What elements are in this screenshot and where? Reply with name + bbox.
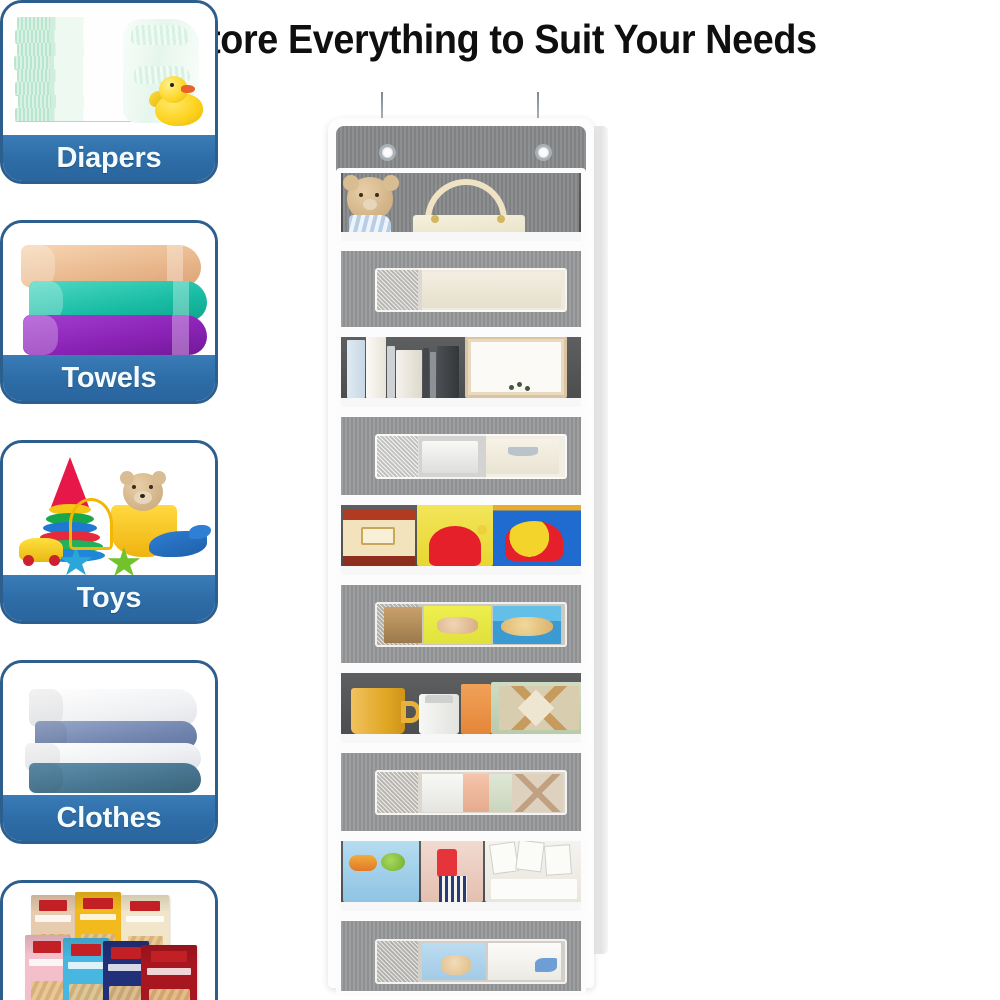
card-banner-diapers: Diapers	[3, 135, 215, 181]
card-banner-toys: Toys	[3, 575, 215, 621]
card-label-clothes: Clothes	[57, 802, 162, 835]
compartment-3-open-shelf[interactable]	[336, 332, 586, 412]
category-card-clothes[interactable]: Clothes	[0, 660, 218, 844]
card-banner-towels: Towels	[3, 355, 215, 401]
grommet-right	[535, 144, 552, 161]
towels-illustration	[3, 223, 215, 361]
compartment-5-open-shelf[interactable]	[336, 500, 586, 580]
card-label-towels: Towels	[62, 362, 157, 395]
clothes-illustration	[3, 663, 215, 801]
compartment-7-open-shelf[interactable]	[336, 668, 586, 748]
compartment-8-mesh-pocket[interactable]	[336, 748, 586, 836]
compartment-2-mesh-pocket[interactable]	[336, 246, 586, 332]
hanging-closet-organizer[interactable]	[322, 92, 600, 990]
compartment-4-mesh-pocket[interactable]	[336, 412, 586, 500]
infographic-canvas: Store Everything to Suit Your Needs	[0, 0, 1000, 1000]
card-banner-clothes: Clothes	[3, 795, 215, 841]
card-label-diapers: Diapers	[57, 142, 162, 175]
compartment-1-open-shelf[interactable]	[336, 168, 586, 246]
organizer-body	[328, 118, 594, 988]
card-label-toys: Toys	[77, 582, 142, 615]
toys-illustration	[3, 443, 215, 581]
compartment-9-open-shelf[interactable]	[336, 836, 586, 916]
snacks-illustration	[3, 883, 215, 1000]
organizer-side-panel	[592, 126, 608, 954]
compartment-10-mesh-pocket[interactable]	[336, 916, 586, 996]
category-card-diapers[interactable]: Diapers	[0, 0, 218, 184]
category-card-towels[interactable]: Towels	[0, 220, 218, 404]
category-card-toys[interactable]: Toys	[0, 440, 218, 624]
grommet-left	[379, 144, 396, 161]
category-card-snacks[interactable]: Snacks	[0, 880, 218, 1000]
diapers-illustration	[3, 3, 215, 141]
compartment-6-mesh-pocket[interactable]	[336, 580, 586, 668]
